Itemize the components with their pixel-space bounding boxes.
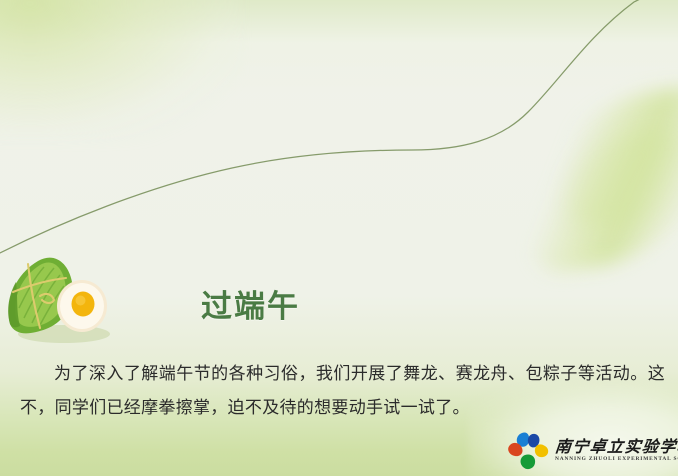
background-corner-wash-top-left bbox=[0, 0, 240, 140]
school-name-english: NANNING ZHUOLI EXPERIMENTAL SCHOOL bbox=[555, 457, 678, 462]
slide-canvas: 过端午 为了深入了解端午节的各种习俗，我们开展了舞龙、赛龙舟、包粽子等活动。这不… bbox=[0, 0, 678, 476]
school-name-chinese: 南宁卓立实验学校 bbox=[554, 439, 678, 455]
school-logo-text: 南宁卓立实验学校 NANNING ZHUOLI EXPERIMENTAL SCH… bbox=[555, 439, 678, 462]
page-title: 过端午 bbox=[201, 292, 300, 323]
body-paragraph: 为了深入了解端午节的各种习俗，我们开展了舞龙、赛龙舟、包粽子等活动。这不，同学们… bbox=[20, 357, 665, 425]
school-logo: 南宁卓立实验学校 NANNING ZHUOLI EXPERIMENTAL SCH… bbox=[505, 428, 675, 474]
flower-logo-icon bbox=[505, 430, 551, 472]
zongzi-illustration-icon bbox=[2, 248, 118, 352]
